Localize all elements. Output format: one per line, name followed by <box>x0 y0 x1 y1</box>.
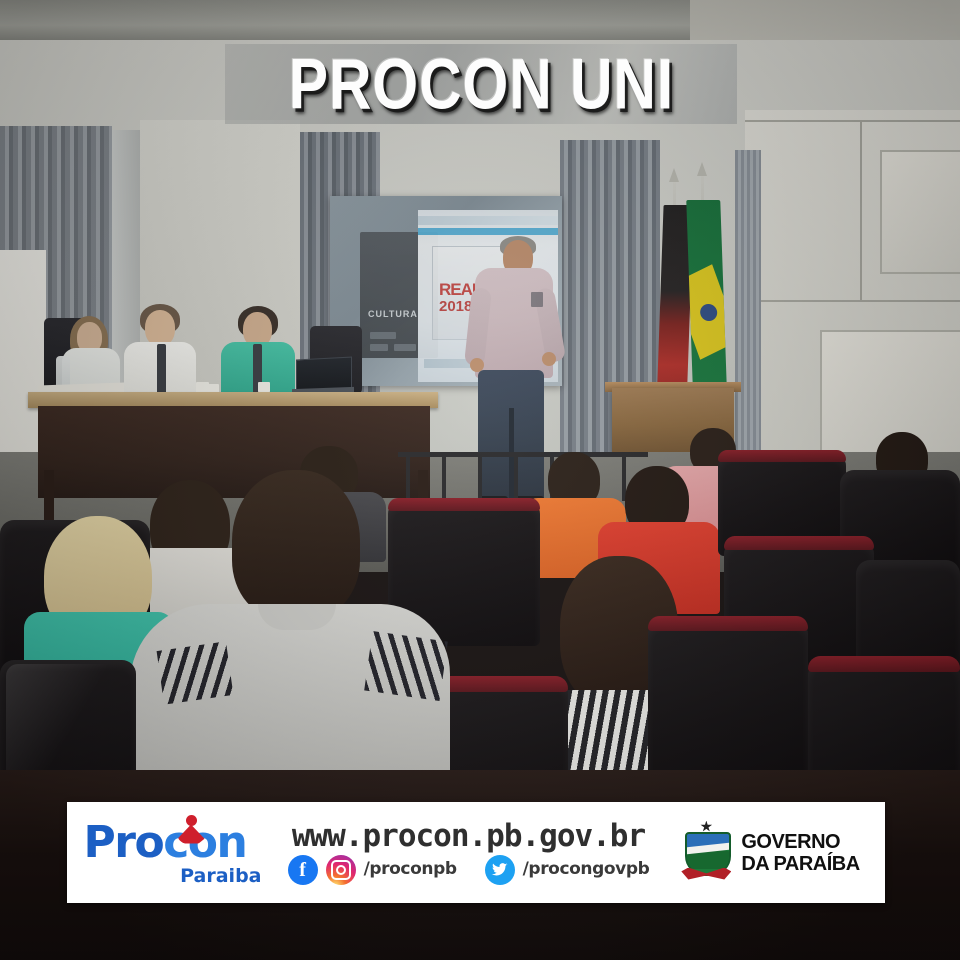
stage-railing <box>398 452 648 500</box>
polo-stripe <box>157 641 234 704</box>
polo-stripe <box>364 631 448 701</box>
government-logo: GOVERNO DA PARAÍBA <box>655 821 885 885</box>
wall-seam <box>745 300 960 302</box>
panelist-tie <box>157 344 166 394</box>
flag-finial <box>669 168 679 182</box>
procon-subtitle: Paraiba <box>180 867 261 886</box>
wall-seam <box>860 120 862 300</box>
twitter-icon[interactable] <box>485 855 515 885</box>
title-banner: PROCON UNI <box>225 44 737 124</box>
audience-head <box>232 470 360 620</box>
government-line1: GOVERNO <box>741 831 859 853</box>
facebook-glyph: f <box>299 860 306 880</box>
speaker-hand <box>542 352 556 366</box>
page-title: PROCON UNI <box>288 48 673 120</box>
footer-bar: Procon Paraiba www.procon.pb.gov.br f /p… <box>67 802 885 903</box>
panelist-head <box>145 310 175 346</box>
social-links: f /proconpb /procongovpb <box>288 855 650 885</box>
window-pane <box>880 150 960 274</box>
meta-handle[interactable]: /proconpb <box>364 861 457 878</box>
poster: CULTURA REALIZ 2018 <box>0 0 960 960</box>
speaker-shirt-pocket <box>531 292 543 307</box>
slide-panel-label: CULTURA <box>368 310 418 319</box>
contact-block: www.procon.pb.gov.br f /proconpb /procon… <box>282 821 655 885</box>
government-label: GOVERNO DA PARAÍBA <box>741 831 859 875</box>
procon-word-pro: Pro <box>84 817 164 868</box>
facebook-icon[interactable]: f <box>288 855 318 885</box>
procon-logo: Procon Paraiba <box>67 815 282 891</box>
wall-seam <box>745 120 960 122</box>
instagram-icon[interactable] <box>326 855 356 885</box>
website-url[interactable]: www.procon.pb.gov.br <box>292 821 645 852</box>
flag-finial <box>697 162 707 176</box>
twitter-handle[interactable]: /procongovpb <box>523 861 650 878</box>
right-blinds-edge <box>735 150 761 450</box>
paraiba-coat-of-arms-icon <box>680 821 732 885</box>
government-line2: DA PARAÍBA <box>741 853 859 875</box>
panel-table <box>38 406 430 498</box>
procon-wordmark: Procon <box>84 821 247 865</box>
person-icon <box>176 815 206 845</box>
slide-year: 2018 <box>439 299 472 314</box>
